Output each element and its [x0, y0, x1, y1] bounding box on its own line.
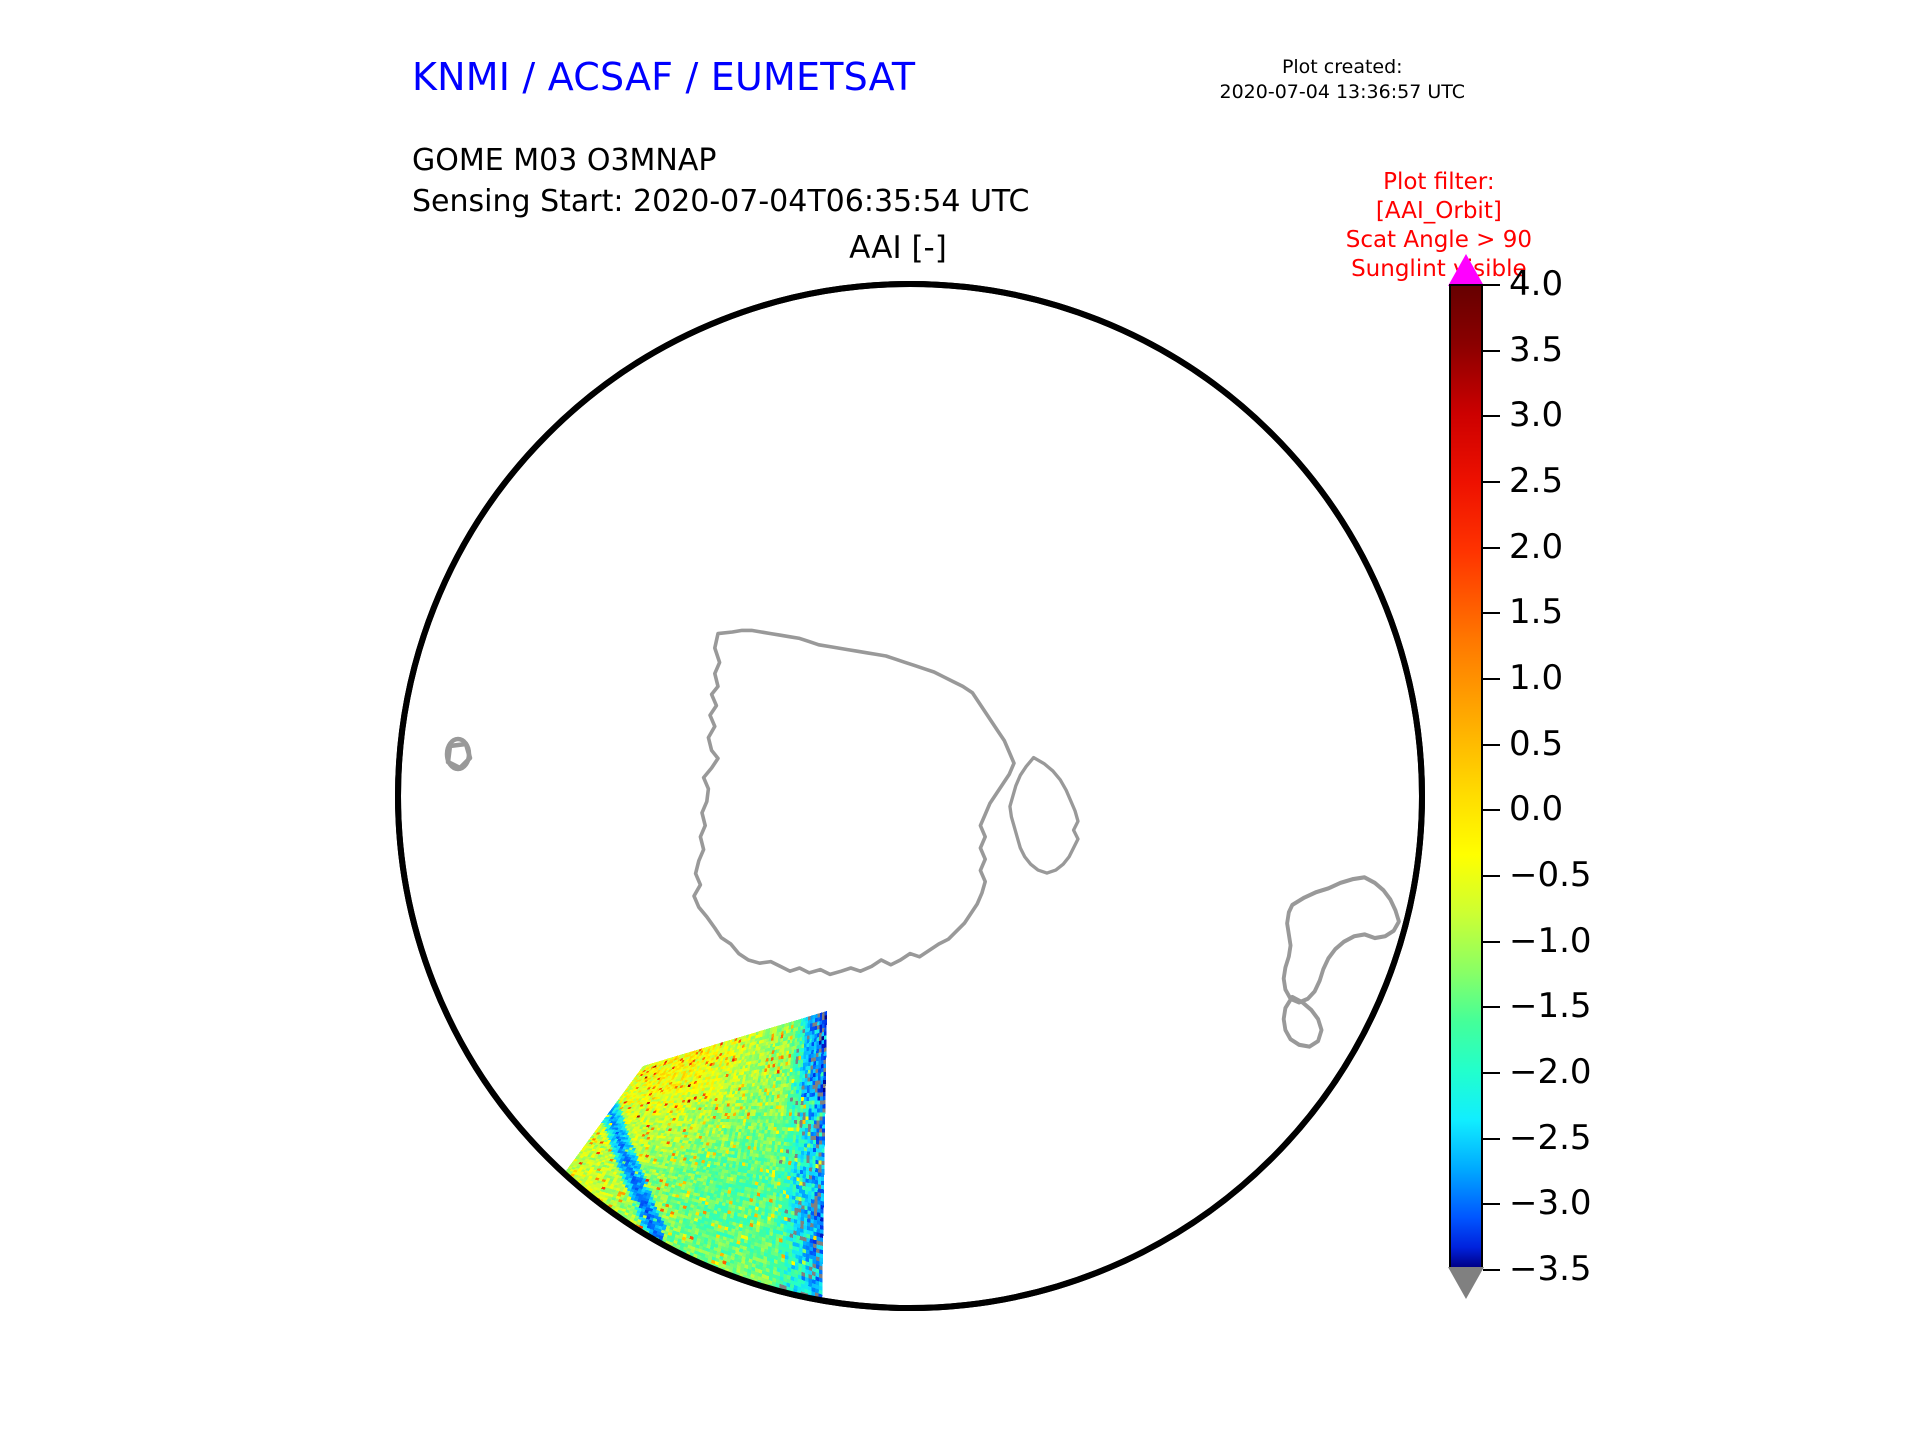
aai-data-cell — [730, 1144, 734, 1148]
aai-data-cell — [795, 1147, 798, 1151]
aai-data-cell — [803, 1167, 806, 1171]
aai-data-cell — [802, 1078, 805, 1082]
aai-data-cell — [757, 1123, 760, 1127]
aai-data-cell — [820, 1088, 823, 1092]
aai-data-cell — [723, 1176, 727, 1180]
aai-data-cell — [725, 1154, 729, 1158]
aai-data-cell — [820, 1217, 823, 1222]
aai-data-cell — [809, 1093, 812, 1097]
aai-data-cell — [747, 1109, 750, 1112]
aai-data-cell — [777, 1219, 781, 1224]
aai-data-cell — [768, 1177, 772, 1181]
aai-data-cell — [813, 1144, 816, 1148]
aai-data-cell — [793, 1060, 796, 1064]
aai-data-cell — [818, 1188, 821, 1193]
aai-data-cell — [808, 1191, 811, 1196]
aai-data-cell — [809, 1159, 812, 1163]
aai-data-cell — [744, 1187, 748, 1191]
aai-data-cell — [812, 1168, 815, 1172]
aai-data-cell — [818, 1088, 821, 1092]
aai-data-cell — [770, 1130, 773, 1134]
aai-data-cell — [806, 1017, 809, 1022]
aai-data-cell — [812, 1022, 815, 1027]
aai-data-cell — [783, 1091, 786, 1095]
aai-data-cell — [776, 1200, 780, 1204]
aai-data-cell — [758, 1096, 761, 1100]
aai-data-cell — [800, 1221, 804, 1226]
aai-data-cell — [777, 1152, 780, 1156]
aai-data-cell — [798, 1154, 801, 1158]
aai-data-cell — [773, 1081, 776, 1085]
aai-data-cell — [806, 1109, 809, 1113]
aai-data-cell — [808, 1132, 811, 1136]
aai-data-cell — [755, 1154, 759, 1158]
aai-data-cell — [732, 1181, 736, 1185]
aai-data-cell — [814, 1041, 817, 1045]
aai-data-cell — [807, 1222, 810, 1227]
aai-data-cell — [794, 1075, 797, 1079]
aai-data-cell — [756, 1106, 759, 1109]
aai-data-cell — [810, 1085, 813, 1089]
aai-data-cell — [792, 1075, 795, 1079]
aai-data-cell — [822, 1112, 825, 1116]
aai-data-cell — [729, 1132, 733, 1135]
aai-data-cell — [750, 1170, 754, 1174]
aai-data-cell — [767, 1109, 770, 1113]
aai-data-cell — [815, 1014, 818, 1019]
aai-data-cell — [730, 1194, 734, 1198]
aai-data-cell — [723, 1163, 727, 1167]
aai-data-cell — [788, 1058, 791, 1062]
aai-data-cell — [819, 1040, 822, 1045]
aai-data-cell — [738, 1116, 741, 1119]
aai-data-cell — [795, 1068, 798, 1072]
aai-data-cell — [807, 1218, 810, 1223]
aai-data-cell — [822, 1129, 825, 1133]
aai-data-cell — [813, 1061, 816, 1065]
aai-data-cell — [781, 1052, 784, 1056]
aai-data-cell — [732, 1132, 736, 1135]
aai-data-cell — [806, 1116, 809, 1120]
aai-data-cell — [766, 1095, 769, 1099]
aai-data-cell — [780, 1059, 783, 1063]
aai-data-cell — [803, 1174, 806, 1178]
aai-data-cell — [780, 1153, 783, 1157]
aai-data-cell — [782, 1157, 785, 1161]
aai-data-cell — [794, 1116, 797, 1120]
aai-data-cell — [756, 1171, 760, 1175]
aai-data-cell — [813, 1065, 816, 1069]
aai-data-cell — [781, 1138, 784, 1142]
aai-data-cell — [815, 1097, 818, 1101]
aai-data-cell — [807, 1151, 810, 1155]
aai-data-cell — [789, 1188, 792, 1192]
aai-data-cell — [725, 1183, 729, 1187]
aai-data-cell — [808, 1054, 811, 1058]
aai-data-cell — [806, 1062, 809, 1066]
aai-data-cell — [748, 1160, 752, 1164]
aai-data-cell — [802, 1190, 805, 1195]
aai-data-cell — [749, 1156, 753, 1160]
aai-data-cell — [799, 1090, 802, 1094]
aai-data-cell — [806, 1112, 809, 1116]
aai-data-cell — [768, 1058, 771, 1062]
aai-data-cell — [818, 1064, 821, 1068]
aai-data-cell — [777, 1185, 780, 1189]
aai-data-cell — [775, 1067, 778, 1071]
aai-data-cell — [821, 1193, 824, 1198]
aai-data-cell — [816, 1136, 819, 1140]
aai-data-cell — [806, 1101, 809, 1105]
aai-data-cell — [795, 1150, 798, 1154]
aai-data-cell — [817, 1208, 820, 1213]
aai-data-cell — [737, 1155, 741, 1159]
aai-data-cell — [769, 1092, 772, 1096]
aai-data-cell — [770, 1061, 773, 1065]
aai-data-cell — [755, 1133, 758, 1137]
aai-data-cell — [818, 1196, 821, 1201]
aai-data-cell — [775, 1174, 778, 1178]
aai-data-cell — [816, 1156, 819, 1160]
aai-data-cell — [728, 1151, 732, 1155]
aai-data-cell — [802, 1182, 805, 1186]
aai-data-cell — [804, 1147, 807, 1151]
aai-data-cell — [765, 1205, 769, 1209]
aai-data-cell — [811, 1062, 814, 1066]
aai-data-cell — [779, 1131, 782, 1135]
aai-data-cell — [763, 1144, 766, 1148]
aai-data-cell — [763, 1075, 766, 1079]
aai-data-cell — [814, 1200, 817, 1205]
aai-data-cell — [795, 1192, 798, 1196]
aai-data-cell — [806, 1167, 809, 1171]
aai-data-cell — [765, 1176, 769, 1180]
aai-data-cell — [760, 1140, 763, 1144]
aai-data-cell — [800, 1037, 803, 1041]
aai-data-cell — [806, 1051, 809, 1055]
aai-data-cell — [758, 1079, 761, 1083]
aai-data-cell — [793, 1139, 796, 1143]
aai-data-cell — [762, 1106, 765, 1110]
aai-data-cell — [771, 1123, 774, 1127]
aai-data-cell — [753, 1199, 757, 1203]
falkland-islands-coastline — [1402, 945, 1428, 969]
aai-data-cell — [815, 1022, 818, 1027]
aai-data-cell — [750, 1093, 753, 1097]
aai-data-cell — [818, 1172, 821, 1176]
aai-data-cell — [764, 1137, 767, 1141]
aai-data-cell — [788, 1127, 791, 1131]
aai-data-cell — [769, 1051, 772, 1055]
aai-data-cell — [809, 1042, 812, 1046]
aai-data-cell — [777, 1066, 780, 1070]
aai-data-cell — [754, 1185, 758, 1189]
aai-data-cell — [791, 1165, 794, 1169]
aai-data-cell — [821, 1044, 824, 1049]
aai-data-cell — [555, 1183, 560, 1186]
aai-data-cell — [816, 1065, 819, 1069]
aai-data-cell — [773, 1106, 776, 1110]
aai-data-cell — [731, 1135, 735, 1138]
aai-data-cell — [824, 1064, 827, 1068]
aai-data-cell — [817, 1212, 820, 1217]
aai-data-cell — [738, 1165, 742, 1169]
aai-data-cell — [820, 1233, 823, 1238]
aai-data-cell — [808, 1187, 811, 1192]
aai-data-cell — [807, 1039, 810, 1043]
aai-data-cell — [796, 1131, 799, 1135]
aai-data-cell — [795, 1101, 798, 1105]
aai-data-cell — [795, 1204, 798, 1209]
aai-data-cell — [788, 1161, 791, 1165]
aai-data-cell — [817, 1092, 820, 1096]
aai-data-cell — [787, 1076, 790, 1080]
aai-data-cell — [819, 1132, 822, 1136]
aai-data-cell — [781, 1105, 784, 1109]
aai-data-cell — [821, 1161, 824, 1165]
aai-data-cell — [765, 1082, 768, 1086]
aai-data-cell — [755, 1099, 758, 1103]
aai-data-cell — [793, 1173, 796, 1177]
aai-data-cell — [738, 1168, 742, 1172]
aai-data-cell — [763, 1095, 766, 1099]
aai-data-cell — [816, 1140, 819, 1144]
aai-data-cell — [800, 1026, 803, 1030]
aai-data-cell — [803, 1059, 806, 1063]
sensing-start-line: Sensing Start: 2020-07-04T06:35:54 UTC — [412, 181, 1029, 222]
aai-data-cell — [810, 1027, 813, 1032]
aai-data-cell — [812, 1105, 815, 1109]
aai-data-cell — [809, 1035, 812, 1039]
aai-data-cell — [804, 1140, 807, 1144]
aai-data-cell — [754, 1106, 757, 1109]
aai-data-cell — [752, 1153, 756, 1157]
aai-data-cell — [724, 1189, 728, 1193]
aai-data-cell — [719, 1166, 723, 1170]
aai-data-cell — [790, 1139, 793, 1143]
aai-data-cell — [821, 1181, 824, 1186]
aai-data-cell — [807, 1043, 810, 1047]
aai-data-cell — [731, 1154, 735, 1158]
aai-data-cell — [810, 1148, 813, 1152]
aai-data-cell — [811, 1120, 814, 1124]
aai-data-cell — [781, 1080, 784, 1084]
aai-data-cell — [744, 1129, 747, 1132]
aai-data-cell — [816, 1057, 819, 1061]
aai-data-cell — [763, 1197, 767, 1201]
aai-data-cell — [739, 1199, 743, 1203]
aai-data-cell — [750, 1150, 754, 1154]
aai-data-cell — [782, 1131, 785, 1135]
aai-data-cell — [797, 1113, 800, 1117]
aai-data-cell — [807, 1093, 810, 1097]
aai-data-cell — [821, 1068, 824, 1072]
aai-data-cell — [783, 1116, 786, 1120]
aai-data-cell — [815, 1018, 818, 1023]
aai-data-cell — [730, 1128, 734, 1131]
aai-data-cell — [819, 1156, 822, 1160]
aai-data-cell — [729, 1116, 732, 1119]
aai-data-cell — [776, 1105, 779, 1109]
aai-data-cell — [740, 1152, 744, 1156]
aai-data-cell — [812, 1034, 815, 1039]
aai-data-cell — [785, 1209, 789, 1213]
aai-data-cell — [742, 1179, 746, 1183]
aai-data-cell — [796, 1139, 799, 1143]
aai-data-cell — [813, 1236, 816, 1241]
aai-data-cell — [819, 1136, 822, 1140]
aai-data-cell — [799, 1178, 802, 1182]
aai-data-cell — [749, 1136, 752, 1140]
aai-data-cell — [811, 1054, 814, 1058]
aai-data-cell — [801, 1059, 804, 1063]
aai-data-cell — [795, 1143, 798, 1147]
aai-data-cell — [817, 1041, 820, 1046]
aai-data-cell — [728, 1187, 732, 1191]
aai-data-cell — [788, 1029, 791, 1033]
aai-data-cell — [738, 1129, 742, 1132]
aai-data-cell — [722, 1150, 726, 1154]
aai-data-cell — [786, 1187, 789, 1191]
aai-data-cell — [790, 1065, 793, 1069]
aai-data-cell — [824, 1023, 827, 1028]
aai-data-cell — [768, 1151, 771, 1155]
aai-data-cell — [814, 1030, 817, 1035]
aai-data-cell — [804, 1036, 807, 1040]
aai-data-cell — [808, 1203, 811, 1208]
aai-data-cell — [780, 1113, 783, 1117]
aai-data-cell — [757, 1143, 760, 1147]
aai-data-cell — [782, 1164, 785, 1168]
aai-data-cell — [763, 1194, 767, 1198]
aai-data-cell — [726, 1163, 730, 1167]
aai-data-cell — [740, 1139, 743, 1143]
aai-data-cell — [730, 1197, 734, 1201]
aai-data-cell — [738, 1113, 741, 1116]
aai-data-cell — [771, 1040, 774, 1044]
aai-data-cell — [807, 1081, 810, 1085]
aai-data-cell — [805, 1194, 808, 1199]
aai-data-cell — [777, 1088, 780, 1092]
aai-data-cell — [773, 1196, 777, 1200]
aai-data-cell — [795, 1060, 798, 1064]
aai-data-cell — [812, 1097, 815, 1101]
aai-data-cell — [751, 1184, 755, 1188]
aai-data-cell — [779, 1073, 782, 1077]
aai-data-cell — [812, 1085, 815, 1089]
aai-data-cell — [802, 1197, 805, 1201]
aai-data-cell — [758, 1182, 762, 1186]
aai-data-cell — [809, 1039, 812, 1043]
aai-data-cell — [786, 1149, 789, 1153]
aai-data-cell — [811, 1116, 814, 1120]
aai-data-cell — [728, 1170, 732, 1174]
aai-data-cell — [825, 1015, 827, 1020]
aai-data-cell — [750, 1146, 754, 1150]
aai-data-cell — [781, 1209, 785, 1214]
aai-data-cell — [813, 1232, 816, 1237]
aai-data-cell — [772, 1166, 775, 1170]
aai-data-cell — [785, 1065, 788, 1069]
aai-data-cell — [773, 1077, 776, 1081]
aai-data-cell — [759, 1175, 763, 1179]
aai-data-cell — [772, 1088, 775, 1092]
aai-data-cell — [811, 1050, 814, 1054]
aai-data-cell — [757, 1189, 761, 1193]
aai-data-cell — [565, 1181, 570, 1184]
aai-data-cell — [764, 1162, 768, 1166]
aai-data-cell — [789, 1083, 792, 1087]
aai-data-cell — [776, 1036, 779, 1040]
aai-data-cell — [773, 1159, 776, 1163]
aai-data-cell — [820, 1100, 823, 1104]
aai-data-cell — [783, 1120, 786, 1124]
aai-data-cell — [822, 1036, 825, 1041]
aai-data-cell — [749, 1103, 752, 1106]
aai-data-cell — [734, 1135, 738, 1138]
aai-data-cell — [767, 1088, 770, 1092]
aai-data-cell — [794, 1219, 797, 1224]
aai-data-cell — [740, 1122, 743, 1125]
aai-data-cell — [804, 1221, 807, 1226]
aai-data-cell — [800, 1109, 803, 1113]
aai-data-cell — [741, 1129, 745, 1132]
aai-data-cell — [797, 1079, 800, 1083]
aai-data-cell — [778, 1212, 782, 1216]
aai-data-cell — [814, 1216, 817, 1221]
aai-data-cell — [727, 1193, 731, 1197]
aai-data-cell — [753, 1076, 756, 1080]
aai-data-cell — [774, 1074, 777, 1078]
aai-data-cell — [768, 1127, 771, 1131]
aai-data-cell — [783, 1058, 786, 1062]
aai-data-cell — [744, 1169, 748, 1173]
aai-data-cell — [750, 1195, 754, 1199]
aai-data-cell — [733, 1129, 737, 1132]
aai-data-cell — [739, 1179, 743, 1183]
aai-data-cell — [789, 1079, 792, 1083]
aai-data-cell — [771, 1127, 774, 1131]
aai-data-cell — [818, 1176, 821, 1180]
aai-data-cell — [752, 1133, 755, 1137]
aai-data-cell — [756, 1175, 760, 1179]
aai-data-cell — [801, 1093, 804, 1097]
aai-data-cell — [786, 1054, 789, 1058]
aai-data-cell — [747, 1191, 751, 1195]
aai-data-cell — [812, 1026, 815, 1031]
aai-data-cell — [767, 1130, 770, 1134]
aai-data-cell — [748, 1139, 751, 1143]
aai-data-cell — [775, 1116, 778, 1120]
aai-data-cell — [761, 1089, 764, 1093]
aai-data-cell — [810, 1144, 813, 1148]
aai-data-cell — [562, 1181, 567, 1184]
aai-data-cell — [820, 1112, 823, 1116]
aai-data-cell — [788, 1210, 792, 1214]
aai-data-cell — [811, 1199, 814, 1204]
aai-data-cell — [767, 1106, 770, 1110]
aai-data-cell — [813, 1152, 816, 1156]
aai-data-cell — [802, 1186, 805, 1190]
aai-data-cell — [762, 1085, 765, 1089]
aai-data-cell — [817, 1120, 820, 1124]
aai-data-cell — [821, 1189, 824, 1194]
aai-data-cell — [805, 1032, 808, 1036]
aai-data-cell — [806, 1047, 809, 1051]
aai-data-cell — [814, 1049, 817, 1053]
aai-data-cell — [797, 1120, 800, 1124]
aai-data-cell — [810, 1031, 813, 1035]
